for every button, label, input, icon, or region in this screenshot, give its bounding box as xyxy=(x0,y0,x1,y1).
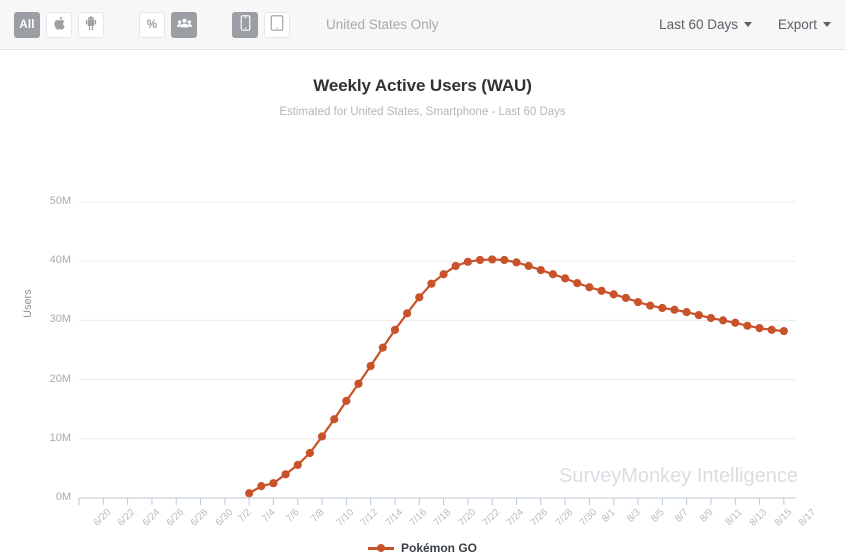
tablet-icon xyxy=(270,15,284,34)
people-icon xyxy=(177,17,192,32)
chevron-down-icon xyxy=(823,22,831,27)
chevron-down-icon xyxy=(744,22,752,27)
export-label: Export xyxy=(778,17,817,32)
filter-all-button[interactable]: All xyxy=(14,12,40,38)
filter-tablet-button[interactable] xyxy=(264,12,290,38)
legend-marker-icon xyxy=(368,543,394,553)
plot-area: Users 0M10M20M30M40M50M 6/206/226/246/26… xyxy=(0,50,845,527)
android-icon xyxy=(84,16,98,34)
platform-filter-group: All xyxy=(14,12,110,38)
filter-ios-button[interactable] xyxy=(46,12,72,38)
chart-panel: Weekly Active Users (WAU) Estimated for … xyxy=(0,50,845,527)
filter-smartphone-button[interactable] xyxy=(232,12,258,38)
filter-percent-button[interactable]: % xyxy=(139,12,165,38)
date-range-label: Last 60 Days xyxy=(659,17,738,32)
phone-icon xyxy=(240,15,251,34)
filter-audience-button[interactable] xyxy=(171,12,197,38)
watermark: SurveyMonkey Intelligence xyxy=(559,465,798,488)
line-chart-svg xyxy=(0,50,845,527)
date-range-dropdown[interactable]: Last 60 Days xyxy=(659,17,752,32)
toolbar-right-group: Last 60 Days Export xyxy=(659,17,831,32)
chart-legend[interactable]: Pokémon GO xyxy=(0,541,845,555)
region-label: United States Only xyxy=(326,17,439,32)
filter-android-button[interactable] xyxy=(78,12,104,38)
toolbar: All xyxy=(0,0,845,50)
device-filter-group xyxy=(232,12,296,38)
apple-icon xyxy=(53,16,66,34)
metric-filter-group: % xyxy=(139,12,203,38)
export-dropdown[interactable]: Export xyxy=(778,17,831,32)
legend-label: Pokémon GO xyxy=(401,541,477,555)
